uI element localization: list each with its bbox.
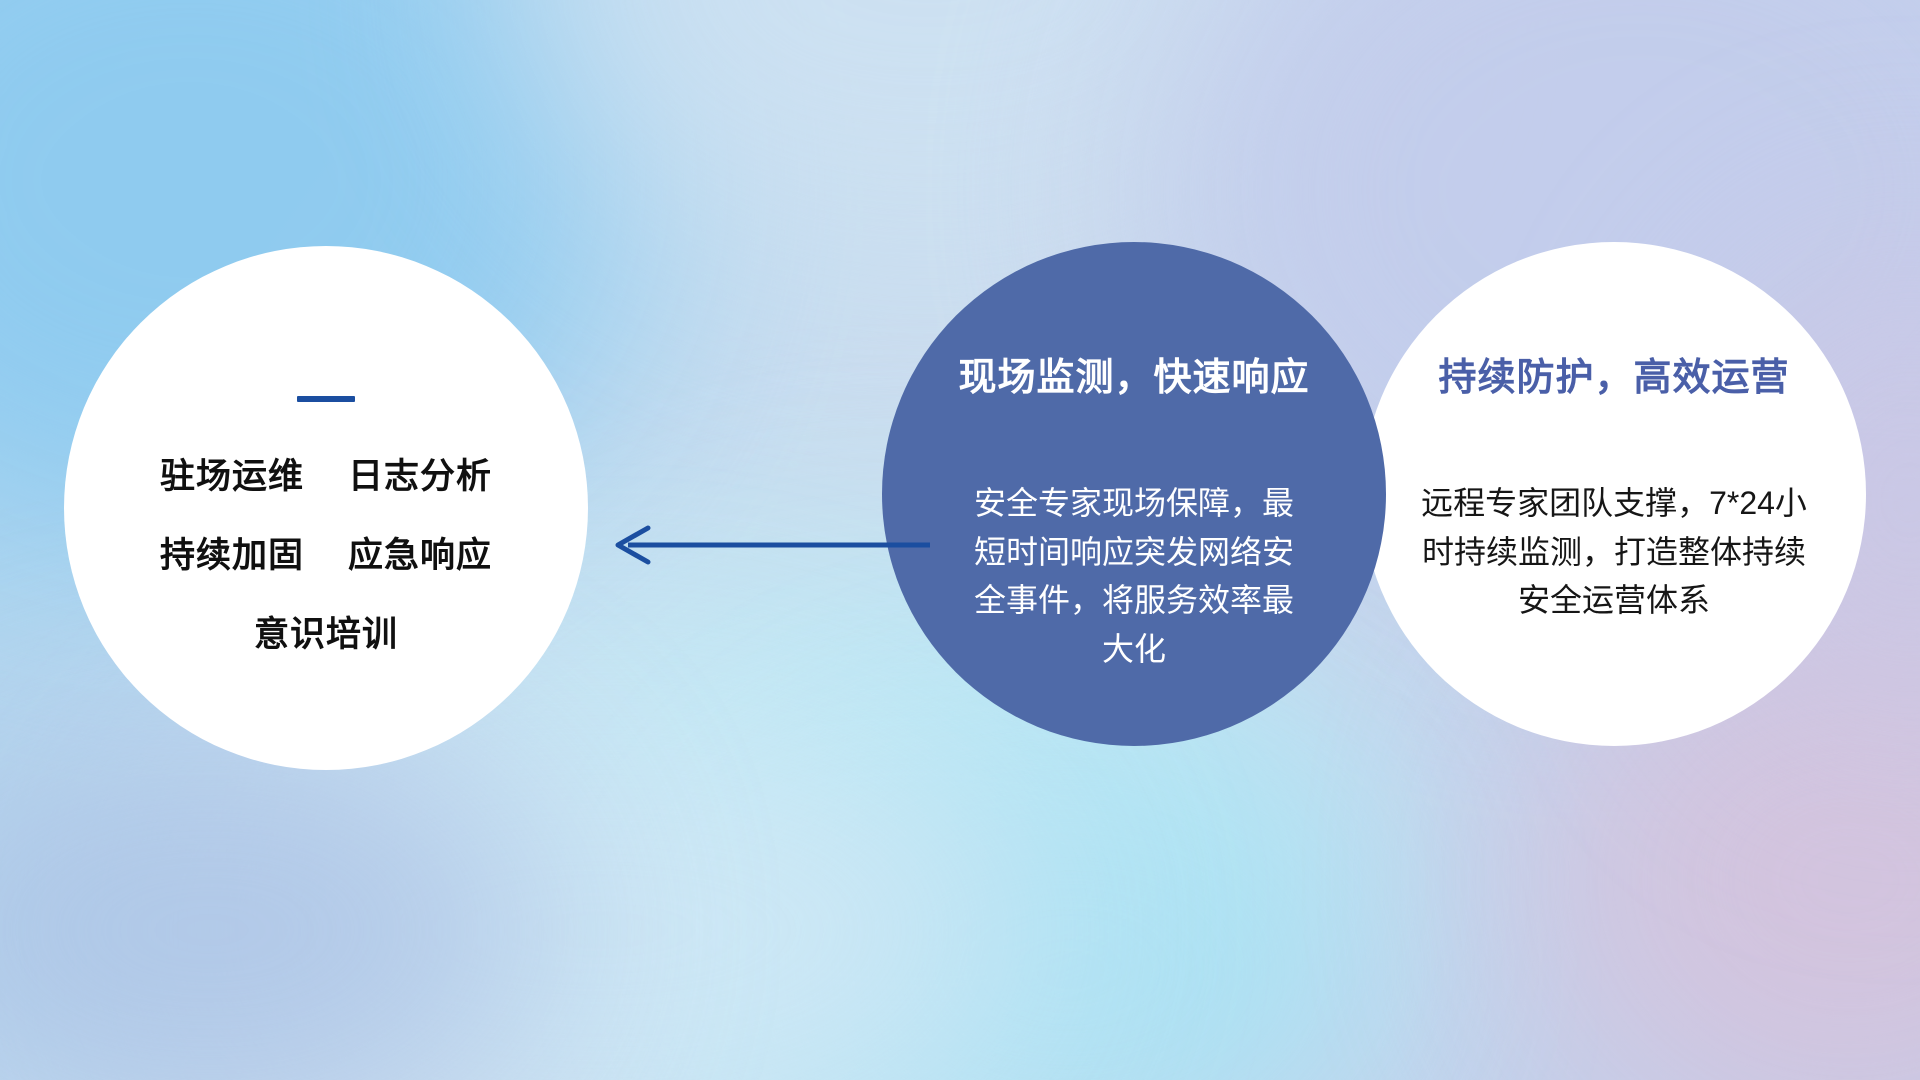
capability-tag[interactable]: 意识培训 [254, 606, 398, 657]
capability-row: 持续加固 应急响应 [104, 527, 548, 578]
service-capabilities-circle[interactable]: 驻场运维 日志分析 持续加固 应急响应 意识培训 [64, 246, 588, 770]
capability-tag[interactable]: 驻场运维 [160, 448, 304, 499]
capability-row: 意识培训 [104, 606, 548, 657]
flow-arrow-left [600, 515, 1080, 575]
capability-tag[interactable]: 日志分析 [348, 448, 492, 499]
continuous-protection-title: 持续防护，高效运营 [1390, 346, 1838, 401]
arrow-left-icon [600, 515, 1080, 575]
slide-canvas: 持续防护，高效运营 远程专家团队支撑，7*24小时持续监测，打造整体持续安全运营… [0, 0, 1920, 1080]
service-capabilities-content: 驻场运维 日志分析 持续加固 应急响应 意识培训 [64, 396, 588, 685]
continuous-protection-circle[interactable]: 持续防护，高效运营 远程专家团队支撑，7*24小时持续监测，打造整体持续安全运营… [1362, 242, 1866, 746]
onsite-monitoring-body: 安全专家现场保障，最短时间响应突发网络安全事件，将服务效率最大化 [969, 479, 1299, 674]
continuous-protection-content: 持续防护，高效运营 远程专家团队支撑，7*24小时持续监测，打造整体持续安全运营… [1362, 346, 1866, 625]
onsite-monitoring-title: 现场监测，快速响应 [916, 346, 1352, 401]
capability-row: 驻场运维 日志分析 [104, 448, 548, 499]
capability-tag[interactable]: 应急响应 [348, 527, 492, 578]
continuous-protection-body: 远程专家团队支撑，7*24小时持续监测，打造整体持续安全运营体系 [1414, 479, 1814, 625]
onsite-monitoring-content: 现场监测，快速响应 安全专家现场保障，最短时间响应突发网络安全事件，将服务效率最… [882, 346, 1386, 674]
accent-dash-icon [297, 396, 355, 402]
onsite-monitoring-circle[interactable]: 现场监测，快速响应 安全专家现场保障，最短时间响应突发网络安全事件，将服务效率最… [882, 242, 1386, 746]
capability-tag[interactable]: 持续加固 [160, 527, 304, 578]
